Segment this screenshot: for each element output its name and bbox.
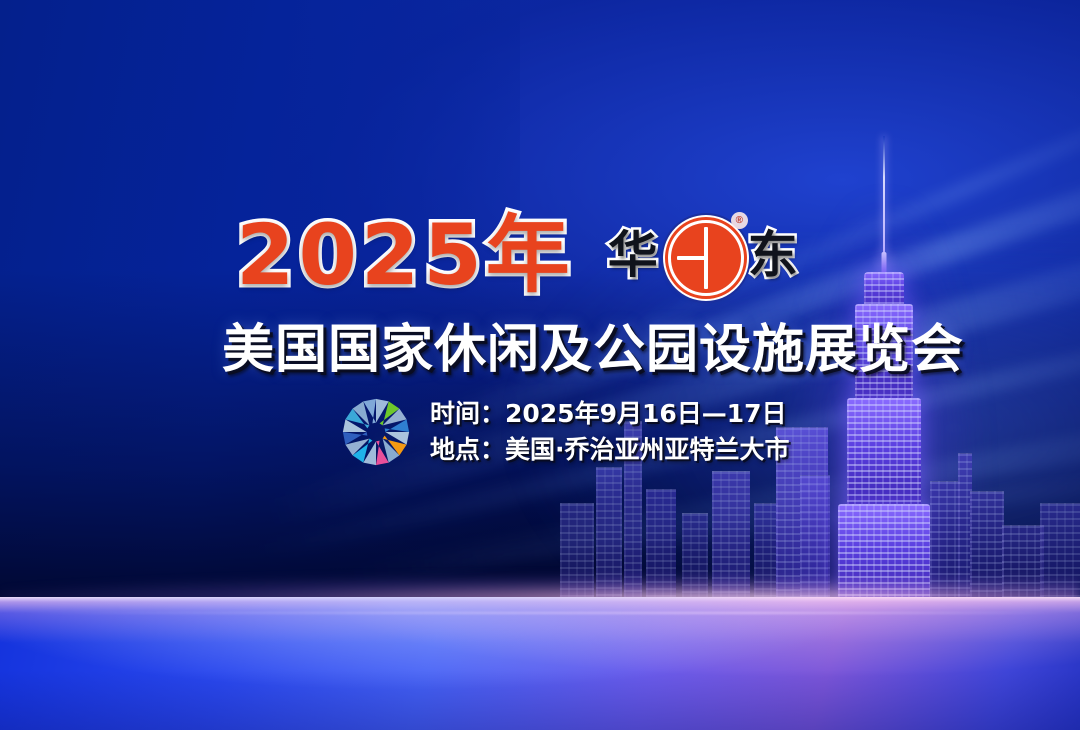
huadong-emblem-icon [668, 220, 744, 296]
event-venue-line: 地点：美国·乔治亚州亚特兰大市 [430, 436, 790, 465]
registered-trademark-icon: ® [731, 212, 748, 229]
year-headline: 2025年 [236, 213, 574, 297]
brand-char-right: 东 [748, 230, 798, 280]
brand-emblem-wrapper: ® [664, 216, 742, 294]
pinwheel-star-logo [340, 396, 412, 468]
emblem-horizontal-bar [677, 256, 707, 260]
event-info-lines: 时间：2025年9月16日—17日 地点：美国·乔治亚州亚特兰大市 [430, 400, 790, 465]
brand-char-left: 华 [608, 230, 658, 280]
event-promo-banner: 2025年 华 ® 东 美国国家休闲及公园设施展览会 [0, 0, 1080, 730]
year-and-brand-row: 2025年 华 ® 东 [236, 205, 798, 305]
page-title: 美国国家休闲及公园设施展览会 [222, 322, 882, 378]
banner-content: 2025年 华 ® 东 美国国家休闲及公园设施展览会 [0, 0, 1080, 730]
event-info-block: 时间：2025年9月16日—17日 地点：美国·乔治亚州亚特兰大市 [340, 396, 790, 468]
brand-lockup: 华 ® 东 [608, 216, 798, 294]
event-date-line: 时间：2025年9月16日—17日 [430, 400, 790, 429]
pinwheel-star-icon [340, 396, 412, 468]
